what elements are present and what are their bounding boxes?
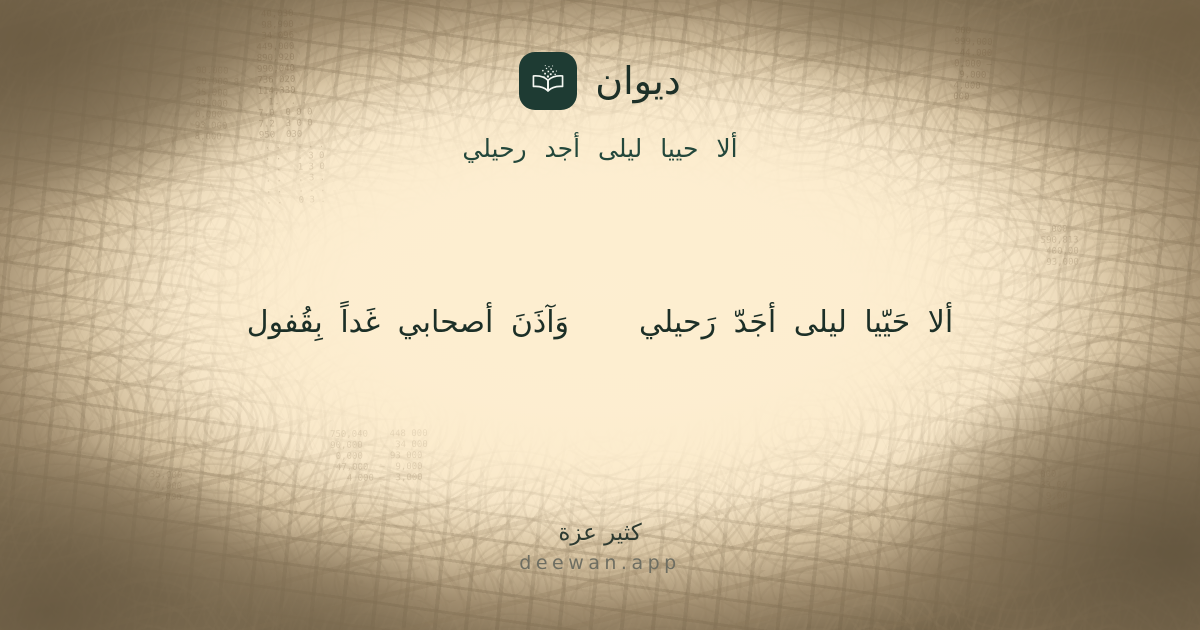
brand-header: ديوان xyxy=(519,52,681,110)
hemistich-first: ألا حَيّيا ليلى أجَدّ رَحيلي xyxy=(639,300,953,345)
site-url: deewan.app xyxy=(519,552,680,574)
card-footer: كثير عزة deewan.app xyxy=(0,520,1200,574)
card-content: ديوان ألا حييا ليلى أجد رحيلي ألا حَيّيا… xyxy=(0,0,1200,630)
share-card: 40,030 — 98,900 - 34 096 449,000 890,920… xyxy=(0,0,1200,630)
open-book-sparkles-icon xyxy=(519,52,577,110)
poem-title: ألا حييا ليلى أجد رحيلي xyxy=(462,132,737,166)
verse-line: ألا حَيّيا ليلى أجَدّ رَحيلي وَآذَنَ أصح… xyxy=(0,300,1200,345)
brand-name: ديوان xyxy=(595,62,681,100)
hemistich-second: وَآذَنَ أصحابي غَداً بِقُفول xyxy=(247,300,569,345)
poet-name: كثير عزة xyxy=(558,520,641,546)
